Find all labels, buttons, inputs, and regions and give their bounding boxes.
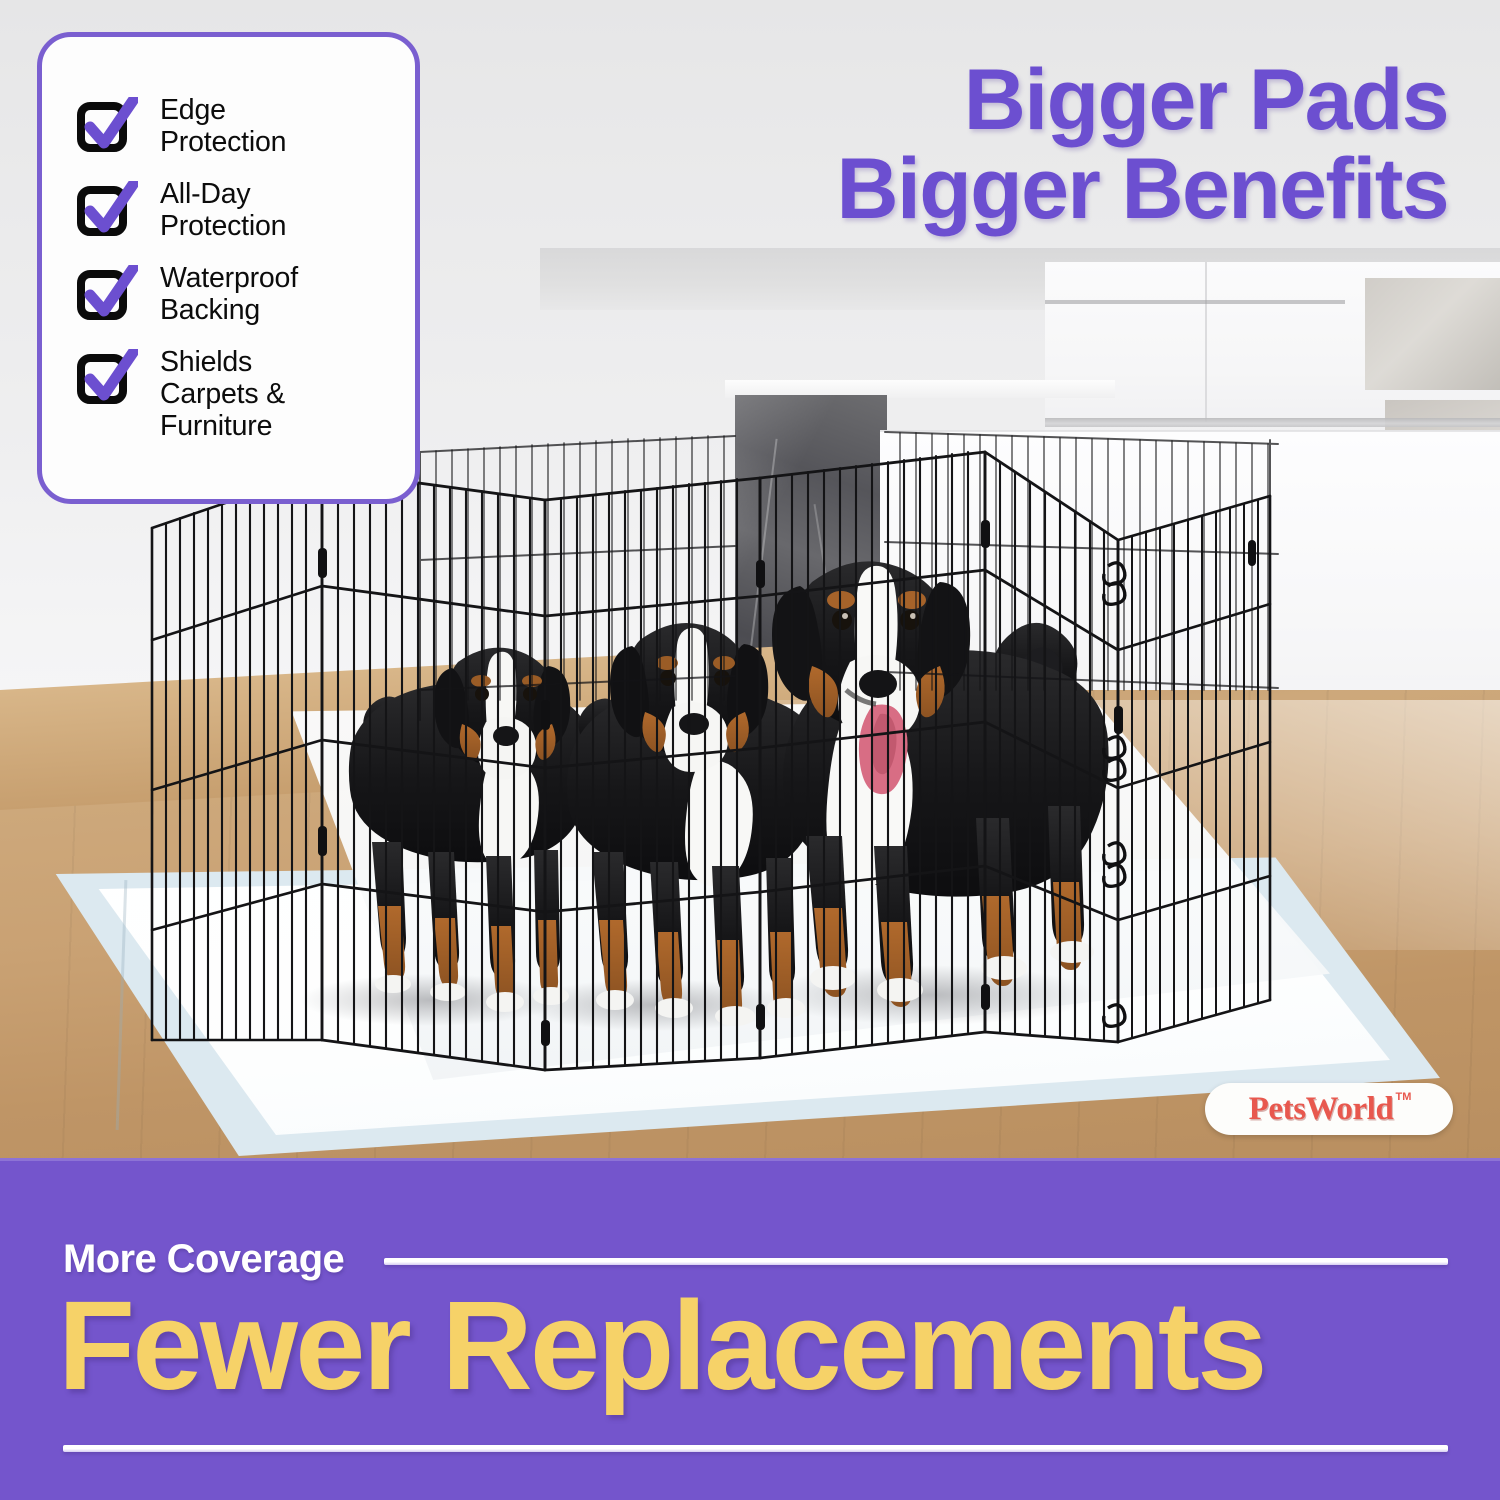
product-infographic: PetsWorldTM Bigger Pads Bigger Benefits … <box>0 0 1500 1500</box>
banner-divider-bottom <box>63 1445 1448 1452</box>
feature-list-card: Edge Protection All-Day Protection Water… <box>37 32 420 504</box>
feature-label: Waterproof Backing <box>160 261 298 327</box>
trademark-symbol: TM <box>1396 1091 1412 1103</box>
banner-headline: Fewer Replacements <box>58 1283 1462 1409</box>
dog-right <box>772 561 1109 1007</box>
headline-line-1: Bigger Pads <box>758 58 1448 143</box>
feature-item-edge-protection: Edge Protection <box>42 87 415 165</box>
checkbox-check-icon <box>76 181 138 239</box>
banner-divider-top <box>384 1258 1448 1265</box>
banner-top-edge <box>0 1158 1500 1161</box>
brand-wordmark: PetsWorld <box>1249 1091 1394 1128</box>
headline-block: Bigger Pads Bigger Benefits <box>758 58 1448 232</box>
checkbox-check-icon <box>76 349 138 407</box>
checkbox-check-icon <box>76 97 138 155</box>
bottom-banner: More Coverage Fewer Replacements <box>0 1158 1500 1500</box>
feature-item-all-day-protection: All-Day Protection <box>42 171 415 249</box>
feature-label: Edge Protection <box>160 93 286 159</box>
brand-logo: PetsWorldTM <box>1205 1083 1453 1135</box>
dog-left <box>349 648 593 1012</box>
headline-line-2: Bigger Benefits <box>758 147 1448 232</box>
banner-kicker: More Coverage <box>63 1239 344 1279</box>
feature-label: Shields Carpets & Furniture <box>160 345 285 443</box>
feature-item-shields-carpets-furniture: Shields Carpets & Furniture <box>42 339 415 449</box>
feature-label: All-Day Protection <box>160 177 286 243</box>
feature-item-waterproof-backing: Waterproof Backing <box>42 255 415 333</box>
checkbox-check-icon <box>76 265 138 323</box>
